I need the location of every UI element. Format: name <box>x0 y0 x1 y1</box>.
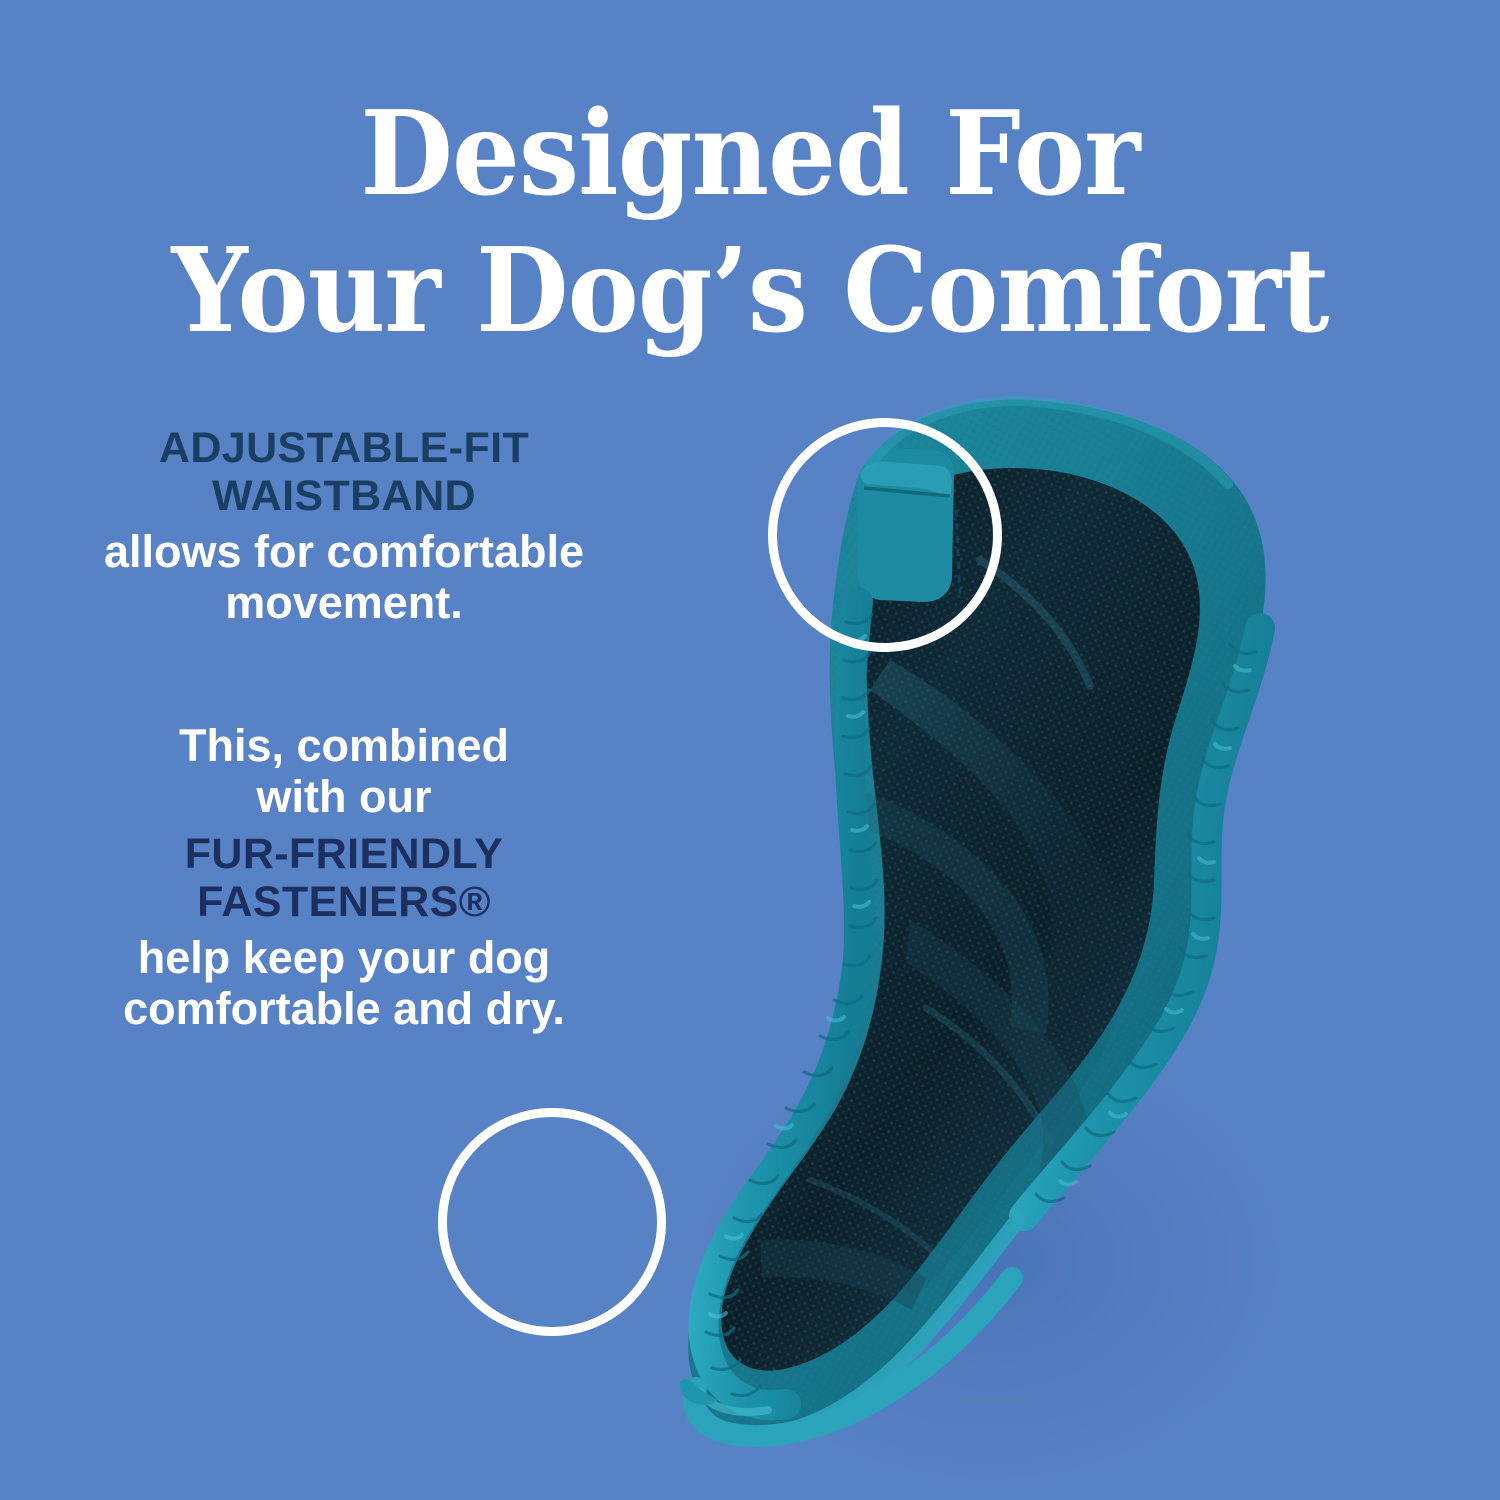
page-title-line-1: Designed For <box>60 86 1440 223</box>
feature-1-kicker-line-1: ADJUSTABLE-FIT <box>159 424 529 472</box>
feature-2-kicker-line-1: FUR-FRIENDLY <box>185 830 504 878</box>
feature-2-lead-line-2: with our <box>257 771 432 822</box>
page-title-line-2: Your Dog’s Comfort <box>60 223 1440 360</box>
feature-1-body: allows for comfortable movement. <box>48 527 640 629</box>
feature-fur-friendly-fasteners: This, combined with our FUR-FRIENDLY FAS… <box>48 721 640 1035</box>
feature-copy-column: ADJUSTABLE-FIT WAISTBAND allows for comf… <box>48 424 640 1035</box>
feature-adjustable-fit-waistband: ADJUSTABLE-FIT WAISTBAND allows for comf… <box>48 424 640 629</box>
product-photo <box>560 360 1500 1500</box>
feature-1-body-line-2: movement. <box>225 577 463 628</box>
feature-2-body-line-1: help keep your dog <box>138 932 551 983</box>
feature-2-body-line-2: comfortable and dry. <box>123 983 565 1034</box>
feature-2-kicker-line-2: FASTENERS® <box>197 878 491 926</box>
page-title: Designed For Your Dog’s Comfort <box>60 86 1440 360</box>
feature-1-kicker-line-2: WAISTBAND <box>212 472 476 520</box>
product-feature-infographic: Designed For Your Dog’s Comfort <box>0 0 1500 1500</box>
feature-2-lead: This, combined with our <box>48 721 640 823</box>
feature-1-kicker: ADJUSTABLE-FIT WAISTBAND <box>48 424 640 520</box>
feature-2-body: help keep your dog comfortable and dry. <box>48 933 640 1035</box>
feature-2-lead-line-1: This, combined <box>179 720 509 771</box>
feature-1-body-line-1: allows for comfortable <box>104 526 584 577</box>
feature-2-kicker: FUR-FRIENDLY FASTENERS® <box>48 830 640 926</box>
